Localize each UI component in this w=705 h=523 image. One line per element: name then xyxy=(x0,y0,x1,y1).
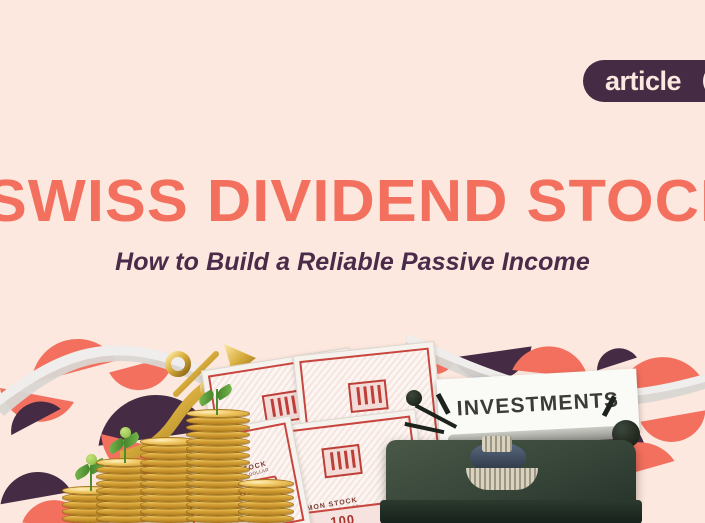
page-subtitle: How to Build a Reliable Passive Income xyxy=(0,248,705,277)
plant-sprout-icon xyxy=(108,427,142,463)
article-badge-label: article xyxy=(605,68,681,95)
article-badge[interactable]: article xyxy=(583,60,705,102)
typewriter-base xyxy=(380,500,642,523)
illustration-layer: COMMON STOCKPAR VALUE OF ONE DOLLAR 100 … xyxy=(0,330,705,523)
typewriter-segment-keys xyxy=(482,436,512,452)
article-badge-pill[interactable]: article xyxy=(583,60,695,102)
cover-canvas: COMMON STOCKPAR VALUE OF ONE DOLLAR 100 … xyxy=(0,0,705,523)
typewriter-knob xyxy=(406,390,422,406)
typewriter-paper-text: INVESTMENTS xyxy=(456,388,620,421)
article-badge-tail xyxy=(695,60,705,102)
plant-sprout-icon xyxy=(200,379,234,415)
page-title: SWISS DIVIDEND STOCKS xyxy=(0,172,705,231)
typewriter-keyboard xyxy=(466,468,538,490)
coin-stack xyxy=(238,469,294,523)
